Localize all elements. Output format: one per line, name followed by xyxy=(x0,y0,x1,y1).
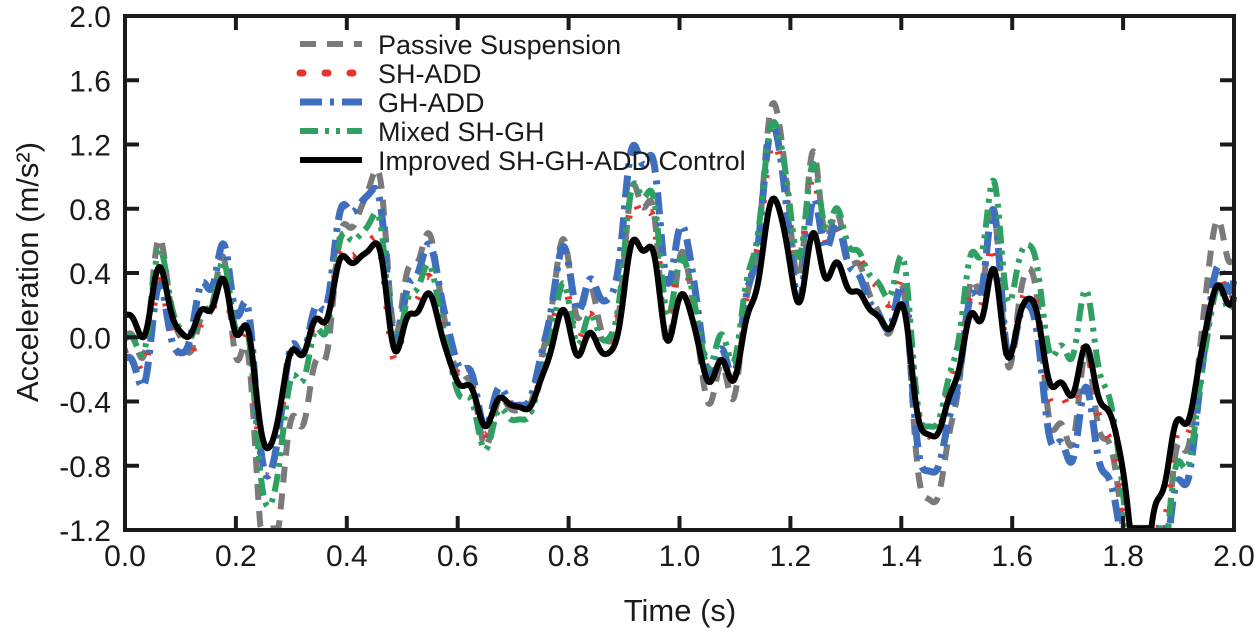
x-tick-label: 0.6 xyxy=(437,540,479,573)
y-tick-label: 0.0 xyxy=(69,322,111,355)
x-tick-label: 0.2 xyxy=(215,540,257,573)
x-tick-label: 2.0 xyxy=(1213,540,1255,573)
legend-label-sh_add: SH-ADD xyxy=(378,59,482,89)
y-tick-label: 0.4 xyxy=(69,258,111,291)
y-tick-label: -1.2 xyxy=(59,515,111,548)
acceleration-time-chart: 0.00.20.40.60.81.01.21.41.61.82.02.01.61… xyxy=(0,0,1255,631)
legend-label-gh_add: GH-ADD xyxy=(378,88,485,118)
legend-item-mixed_sh_gh[interactable]: Mixed SH-GH xyxy=(300,117,545,147)
legend-label-improved: Improved SH-GH-ADD Control xyxy=(378,146,746,176)
x-axis-title: Time (s) xyxy=(624,593,737,628)
y-tick-label: 0.8 xyxy=(69,194,111,227)
series-mixed_sh_gh xyxy=(125,122,1234,528)
y-tick-label: 1.2 xyxy=(69,130,111,163)
series-sh_add xyxy=(125,141,1234,528)
legend-item-gh_add[interactable]: GH-ADD xyxy=(300,88,485,118)
y-tick-label: 2.0 xyxy=(69,1,111,34)
y-axis-title: Acceleration (m/s²) xyxy=(10,142,45,402)
legend-label-passive: Passive Suspension xyxy=(378,30,621,60)
y-tick-label: 1.6 xyxy=(69,65,111,98)
x-tick-label: 0.8 xyxy=(548,540,590,573)
x-tick-label: 1.8 xyxy=(1102,540,1144,573)
legend-label-mixed_sh_gh: Mixed SH-GH xyxy=(378,117,545,147)
y-tick-label: -0.8 xyxy=(59,451,111,484)
x-tick-label: 1.0 xyxy=(659,540,701,573)
x-tick-label: 1.6 xyxy=(991,540,1033,573)
chart-canvas: 0.00.20.40.60.81.01.21.41.61.82.02.01.61… xyxy=(0,0,1255,631)
x-tick-label: 1.2 xyxy=(770,540,812,573)
legend-item-improved[interactable]: Improved SH-GH-ADD Control xyxy=(300,146,746,176)
y-tick-label: -0.4 xyxy=(59,387,111,420)
series-gh_add xyxy=(125,125,1234,528)
legend-item-passive[interactable]: Passive Suspension xyxy=(300,30,621,60)
x-tick-label: 0.4 xyxy=(326,540,368,573)
chart-legend: Passive SuspensionSH-ADDGH-ADDMixed SH-G… xyxy=(300,30,746,176)
legend-item-sh_add[interactable]: SH-ADD xyxy=(300,59,482,89)
series-improved xyxy=(125,198,1234,528)
x-tick-label: 1.4 xyxy=(880,540,922,573)
